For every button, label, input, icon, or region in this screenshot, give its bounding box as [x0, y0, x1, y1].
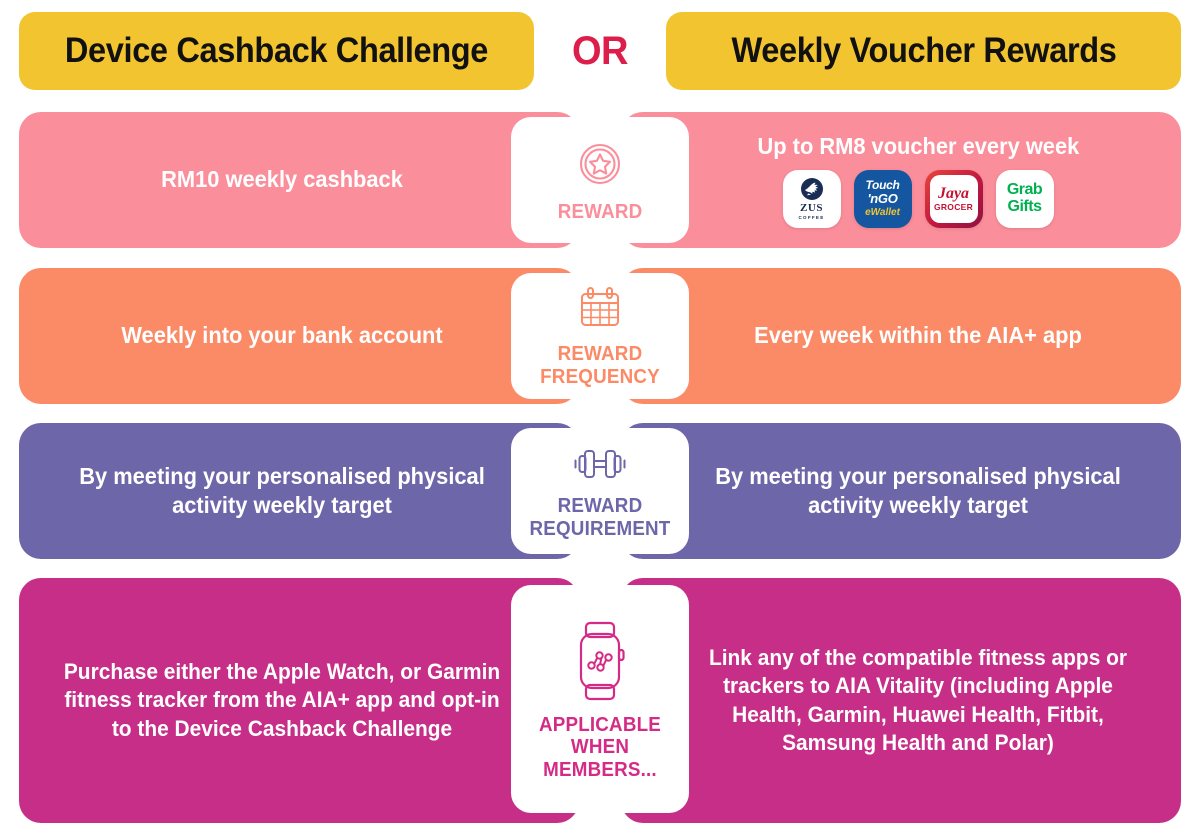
center-card-requirement: REWARD REQUIREMENT — [511, 428, 689, 554]
grab-line1: Grab — [1007, 182, 1042, 198]
dumbbell-icon — [572, 442, 628, 486]
row-frequency-right-panel: Every week within the AIA+ app — [621, 268, 1181, 404]
tng-line1: Touch — [865, 179, 899, 191]
center-card-reward: REWARD — [511, 117, 689, 243]
row-reward-left-text: RM10 weekly cashback — [57, 165, 507, 194]
jaya-grocer-logo: Jaya GROCER — [925, 170, 983, 228]
zus-subtitle: COFFEE — [798, 216, 824, 221]
calendar-icon — [575, 284, 625, 334]
voucher-logo-row: ZUS COFFEE Touch 'nGO eWallet Jaya GROCE… — [783, 170, 1054, 228]
zus-lion-icon — [799, 177, 825, 201]
center-label-frequency: REWARD FREQUENCY — [516, 343, 683, 388]
row-applicable-left-panel: Purchase either the Apple Watch, or Garm… — [19, 578, 579, 823]
row-applicable-right-text: Link any of the compatible fitness apps … — [693, 644, 1143, 757]
row-applicable-right-panel: Link any of the compatible fitness apps … — [621, 578, 1181, 823]
row-reward-left-panel: RM10 weekly cashback — [19, 112, 579, 248]
row-frequency-left-panel: Weekly into your bank account — [19, 268, 579, 404]
row-requirement-left-text: By meeting your personalised physical ac… — [57, 462, 507, 521]
smartwatch-icon — [569, 617, 631, 705]
row-frequency-right-text: Every week within the AIA+ app — [693, 321, 1143, 350]
jaya-wordmark: Jaya — [938, 186, 969, 202]
zus-coffee-logo: ZUS COFFEE — [783, 170, 841, 228]
center-label-reward: REWARD — [558, 201, 643, 223]
center-card-frequency: REWARD FREQUENCY — [511, 273, 689, 399]
grab-gifts-logo: Grab Gifts — [996, 170, 1054, 228]
zus-wordmark: ZUS — [800, 203, 823, 214]
center-label-applicable: APPLICABLE WHEN MEMBERS... — [516, 714, 683, 781]
header-left-title: Device Cashback Challenge — [65, 31, 488, 71]
tng-line3: eWallet — [865, 208, 900, 218]
center-label-requirement: REWARD REQUIREMENT — [516, 495, 683, 540]
tng-line2: 'nGO — [867, 192, 897, 205]
row-requirement-right-text: By meeting your personalised physical ac… — [693, 462, 1143, 521]
jaya-subtitle: GROCER — [934, 203, 973, 212]
star-medal-icon — [572, 136, 628, 192]
row-requirement-left-panel: By meeting your personalised physical ac… — [19, 423, 579, 559]
or-separator-label: OR — [537, 12, 662, 90]
header-right-title: Weekly Voucher Rewards — [731, 31, 1116, 71]
row-applicable-when-members: Purchase either the Apple Watch, or Garm… — [0, 578, 1200, 823]
touch-n-go-ewallet-logo: Touch 'nGO eWallet — [854, 170, 912, 228]
center-card-applicable: APPLICABLE WHEN MEMBERS... — [511, 585, 689, 813]
row-reward-frequency: Weekly into your bank account Every week… — [0, 268, 1200, 404]
row-requirement-right-panel: By meeting your personalised physical ac… — [621, 423, 1181, 559]
row-reward-requirement: By meeting your personalised physical ac… — [0, 423, 1200, 559]
row-reward-right-panel: Up to RM8 voucher every week ZUS COFFEE — [621, 112, 1181, 248]
row-frequency-left-text: Weekly into your bank account — [57, 321, 507, 350]
row-reward: RM10 weekly cashback Up to RM8 voucher e… — [0, 112, 1200, 248]
header-chip-left: Device Cashback Challenge — [19, 12, 534, 90]
comparison-infographic: Device Cashback Challenge OR Weekly Vouc… — [0, 0, 1200, 835]
header-chip-right: Weekly Voucher Rewards — [666, 12, 1181, 90]
row-applicable-left-text: Purchase either the Apple Watch, or Garm… — [57, 658, 507, 742]
grab-line2: Gifts — [1008, 199, 1042, 215]
voucher-title: Up to RM8 voucher every week — [757, 133, 1079, 160]
